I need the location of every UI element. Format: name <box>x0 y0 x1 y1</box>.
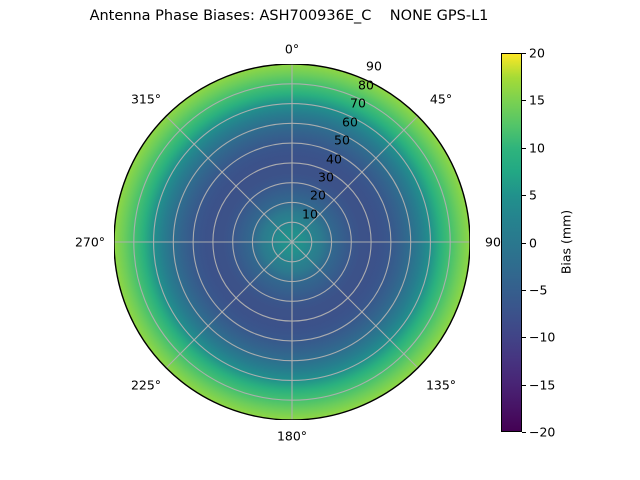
theta-tick-270: 270° <box>75 235 105 250</box>
colorbar-ticklabel-0: 0 <box>529 235 537 250</box>
colorbar-ticklabel-15: 15 <box>529 93 545 108</box>
colorbar-tickmark <box>522 290 526 291</box>
polar-heatmap <box>114 64 470 420</box>
colorbar-ticklabel-m10: −10 <box>529 330 555 345</box>
r-tick-50: 50 <box>334 133 350 148</box>
r-tick-10: 10 <box>302 207 318 222</box>
theta-tick-90: 90 <box>485 235 501 250</box>
theta-tick-315: 315° <box>131 92 161 107</box>
r-tick-70: 70 <box>350 96 366 111</box>
colorbar-tickmark <box>522 337 526 338</box>
colorbar-tickmark <box>522 195 526 196</box>
colorbar-tickmark <box>522 100 526 101</box>
theta-tick-45: 45° <box>430 92 452 107</box>
theta-tick-135: 135° <box>426 378 456 393</box>
angular-gridlines <box>114 64 470 420</box>
colorbar-gradient <box>501 53 522 432</box>
colorbar-tickmark <box>522 53 526 54</box>
r-tick-30: 30 <box>318 170 334 185</box>
r-tick-40: 40 <box>326 152 342 167</box>
colorbar-ticklabel-m15: −15 <box>529 377 555 392</box>
page-title: Antenna Phase Biases: ASH700936E_C NONE … <box>0 8 578 24</box>
colorbar-tickmark <box>522 148 526 149</box>
polar-axes[interactable]: 0° 45° 90 135° 180° 225° 270° 315° 10 20… <box>114 64 470 420</box>
theta-tick-0: 0° <box>285 42 299 57</box>
r-tick-90: 90 <box>366 59 382 74</box>
theta-tick-225: 225° <box>131 378 161 393</box>
colorbar-ticklabel-10: 10 <box>529 140 545 155</box>
colorbar-ticklabel-m5: −5 <box>529 282 547 297</box>
r-tick-20: 20 <box>310 188 326 203</box>
colorbar-axis-label: Bias (mm) <box>559 210 574 274</box>
colorbar-tickmark <box>522 243 526 244</box>
colorbar-ticklabel-5: 5 <box>529 188 537 203</box>
colorbar-tickmark <box>522 385 526 386</box>
colorbar-ticklabel-20: 20 <box>529 46 545 61</box>
r-tick-80: 80 <box>358 78 374 93</box>
r-tick-60: 60 <box>342 115 358 130</box>
colorbar[interactable]: 20 15 10 5 0 −5 −10 −15 −20 <box>501 53 522 432</box>
theta-tick-180: 180° <box>277 429 307 444</box>
colorbar-tickmark <box>522 432 526 433</box>
figure-canvas: Antenna Phase Biases: ASH700936E_C NONE … <box>0 0 640 480</box>
colorbar-ticklabel-m20: −20 <box>529 425 555 440</box>
